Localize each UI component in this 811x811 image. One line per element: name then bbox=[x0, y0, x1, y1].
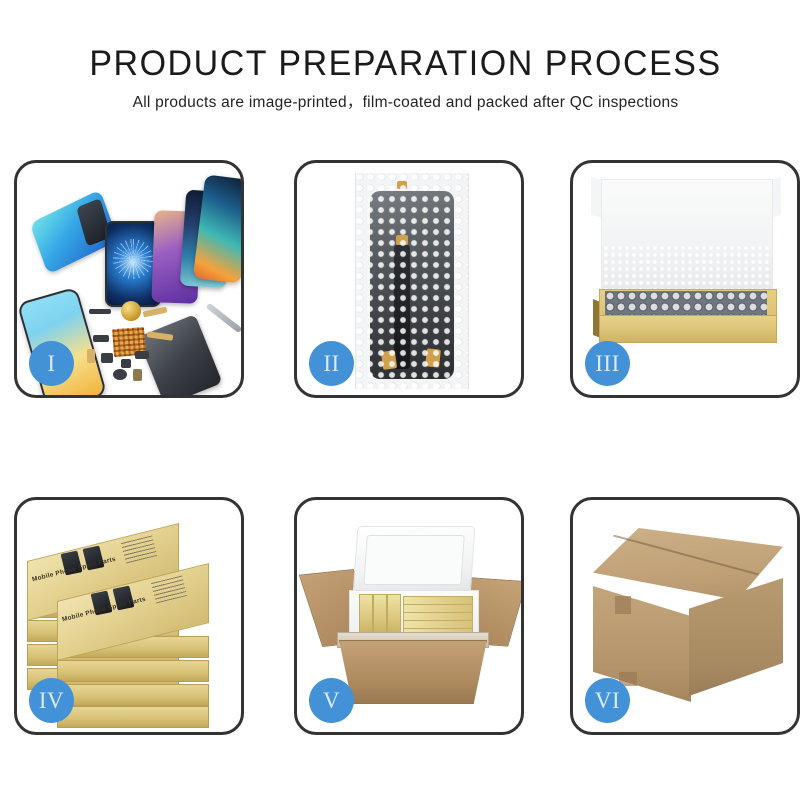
connector-icon bbox=[425, 348, 441, 367]
carton-side-face-icon bbox=[689, 578, 783, 696]
speaker-part-icon bbox=[113, 369, 127, 380]
flex-cable-strip-icon bbox=[394, 245, 410, 369]
gold-box-icon bbox=[373, 594, 387, 636]
process-step-5: V bbox=[294, 497, 524, 735]
foam-liner-icon bbox=[603, 245, 769, 293]
small-part-icon bbox=[93, 335, 109, 342]
step-badge-6: VI bbox=[585, 678, 630, 723]
page-header: PRODUCT PREPARATION PROCESS All products… bbox=[0, 0, 811, 113]
tweezers-icon bbox=[206, 303, 241, 334]
connector-icon bbox=[381, 350, 397, 370]
flex-cable-icon bbox=[87, 349, 95, 363]
small-part-icon bbox=[135, 351, 149, 359]
phone-back-housing-icon bbox=[137, 314, 222, 395]
process-step-6: VI bbox=[570, 497, 800, 735]
process-step-4: Mobile Phone Spare Parts Mobile Phone Sp… bbox=[14, 497, 244, 735]
process-step-3: III bbox=[570, 160, 800, 398]
process-step-2: II bbox=[294, 160, 524, 398]
gold-box-icon bbox=[57, 684, 209, 706]
foam-box-lid-icon bbox=[353, 526, 476, 596]
process-step-grid: I II III bbox=[14, 160, 799, 735]
gold-box-icon bbox=[387, 594, 401, 636]
gold-box-icon bbox=[359, 594, 373, 636]
step-badge-4: IV bbox=[29, 678, 74, 723]
small-part-icon bbox=[101, 353, 113, 363]
carton-body-icon bbox=[339, 640, 487, 704]
gold-box-icon bbox=[57, 660, 209, 682]
small-part-icon bbox=[89, 309, 111, 314]
step-badge-2: II bbox=[309, 341, 354, 386]
step-badge-1: I bbox=[29, 341, 74, 386]
connector-icon bbox=[397, 181, 407, 189]
page-subtitle: All products are image-printed，film-coat… bbox=[0, 84, 811, 113]
carton-tape-icon bbox=[615, 596, 631, 614]
gold-disc-part-icon bbox=[121, 301, 141, 321]
gold-box-front-icon bbox=[599, 315, 777, 343]
small-part-icon bbox=[121, 359, 131, 368]
gold-box-icon bbox=[57, 706, 209, 728]
step-badge-3: III bbox=[585, 341, 630, 386]
flex-cable-icon bbox=[143, 307, 168, 318]
battery-part-icon bbox=[133, 369, 142, 381]
page-title: PRODUCT PREPARATION PROCESS bbox=[12, 0, 799, 84]
process-step-1: I bbox=[14, 160, 244, 398]
bubble-wrap-bag-icon bbox=[355, 173, 469, 389]
connector-icon bbox=[396, 235, 408, 245]
step-badge-5: V bbox=[309, 678, 354, 723]
